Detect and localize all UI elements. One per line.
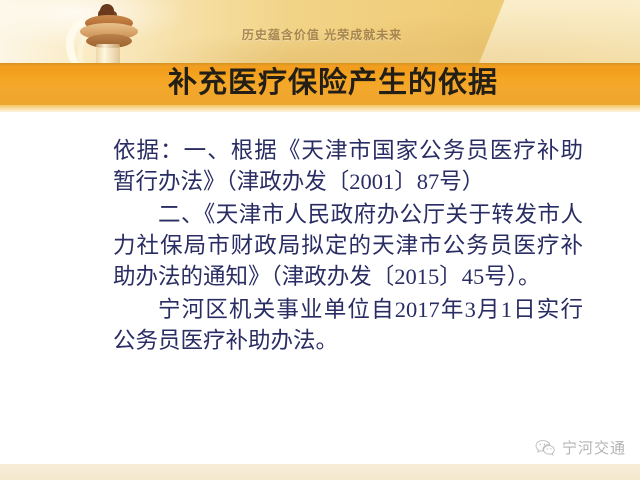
slide-body: 依据：一、根据《天津市国家公务员医疗补助暂行办法》（津政办发〔2001〕87号）… bbox=[0, 112, 640, 452]
slide-canvas: 历史蕴含价值 光荣成就未来 补充医疗保险产生的依据 依据：一、根据《天津市国家公… bbox=[0, 0, 640, 480]
footer-strip bbox=[0, 464, 640, 480]
banner-motto-text: 历史蕴含价值 光荣成就未来 bbox=[222, 26, 422, 43]
paragraph-one: 依据：一、根据《天津市国家公务员医疗补助暂行办法》（津政办发〔2001〕87号） bbox=[113, 135, 583, 197]
paragraph-three: 宁河区机关事业单位自2017年3月1日实行公务员医疗补助办法。 bbox=[113, 294, 583, 356]
watermark-label: 宁河交通 bbox=[562, 437, 626, 458]
watermark: 宁河交通 bbox=[535, 437, 626, 458]
body-text-block: 依据：一、根据《天津市国家公务员医疗补助暂行办法》（津政办发〔2001〕87号）… bbox=[113, 135, 583, 358]
header-banner: 历史蕴含价值 光荣成就未来 补充医疗保险产生的依据 bbox=[0, 0, 640, 112]
banner-bottom-edge bbox=[0, 105, 640, 112]
wechat-icon bbox=[535, 439, 555, 456]
page-title: 补充医疗保险产生的依据 bbox=[168, 61, 498, 105]
paragraph-two: 二、《天津市人民政府办公厅关于转发市人力社保局市财政局拟定的天津市公务员医疗补助… bbox=[113, 199, 583, 292]
